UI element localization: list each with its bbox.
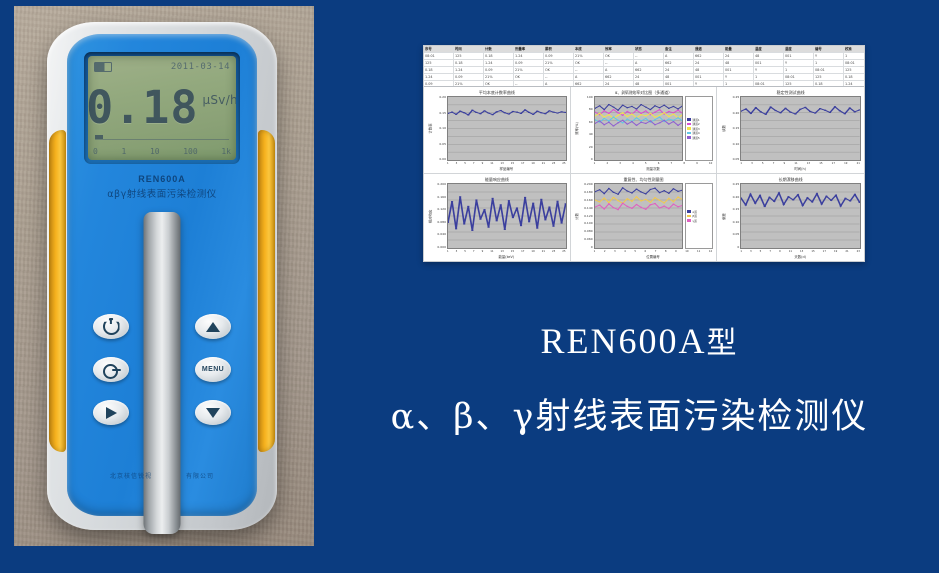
chart-data-point <box>520 225 522 226</box>
chart-data-point <box>663 190 665 191</box>
chart-y-tick: 0.200 <box>437 183 446 186</box>
chart-data-point <box>814 112 816 113</box>
spreadsheet-cell: 24 <box>664 67 694 73</box>
chart-data-point <box>622 203 624 204</box>
chart-y-tick: 40 <box>589 133 593 136</box>
triangle-up-icon <box>206 322 220 332</box>
spreadsheet-cell: 662 <box>694 53 724 59</box>
chart-data-point <box>612 109 614 110</box>
chart-data-point <box>556 201 558 202</box>
chart-data-point <box>668 208 670 209</box>
chart-data-point <box>640 122 642 123</box>
chart-data-point <box>475 199 477 200</box>
chart-data-point <box>595 191 596 192</box>
lcd-bargraph-axis <box>95 139 229 140</box>
chart-data-point <box>645 123 647 124</box>
chart-data-point <box>658 109 660 110</box>
page-subtitle: α、β、γ射线表面污染检测仪 <box>320 388 939 439</box>
chart-data-point <box>516 112 518 113</box>
chart-data-point <box>536 111 538 112</box>
spreadsheet-cell: 001 <box>724 67 754 73</box>
lcd-bargraph <box>95 135 229 140</box>
chart-data-point <box>622 122 624 123</box>
chart-data-point <box>520 113 522 114</box>
chart-data-point <box>622 120 624 121</box>
chart-x-axis-label: 位置编号 <box>593 254 714 260</box>
chart-data-point <box>672 188 674 189</box>
chart-data-point <box>645 193 647 194</box>
chart-legend-label: 通道1 <box>692 118 699 122</box>
chart-body: 偏差0.250.200.150.100.050 <box>720 183 861 249</box>
chart-body: 计数率0.200.150.100.050.00 <box>427 96 567 161</box>
device-label-model: REN600A <box>67 174 257 184</box>
chart-legend-item: 通道1 <box>687 118 711 122</box>
chart-data-point <box>528 221 530 222</box>
chart-series-line <box>741 107 860 115</box>
chart-data-point <box>672 112 674 113</box>
chart-data-point <box>608 114 610 115</box>
chart-plot-area <box>594 183 684 249</box>
chart-data-point <box>640 120 642 121</box>
chart-data-point <box>640 200 642 201</box>
chart-data-point <box>540 199 542 200</box>
chart-data-point <box>645 115 647 116</box>
chart-x-axis-label: 天数(d) <box>739 254 861 260</box>
chart-data-point <box>654 105 656 106</box>
spreadsheet-cell: 1.24 <box>484 60 514 66</box>
chart-y-tick: 0.20 <box>733 112 740 115</box>
chart-data-point <box>483 209 485 210</box>
chart-data-point <box>635 204 637 205</box>
chart-data-point <box>658 207 660 208</box>
chart-data-point <box>603 208 605 209</box>
chart-data-point <box>512 217 514 218</box>
chart-data-point <box>649 202 651 203</box>
chart-data-point <box>682 190 683 191</box>
chart-data-point <box>488 227 490 228</box>
title-block: REN600A型 α、β、γ射线表面污染检测仪 <box>320 318 939 439</box>
chart-y-tick: 0.05 <box>733 158 740 161</box>
chart-data-point <box>672 121 674 122</box>
chart-data-point <box>658 115 660 116</box>
chart-data-point <box>598 189 600 190</box>
chart-data-point <box>849 200 851 201</box>
chart-data-point <box>677 206 679 207</box>
chart-y-tick: 0.040 <box>437 233 446 236</box>
lcd-scale-tick: 1k <box>221 147 231 156</box>
chart-data-point <box>654 112 656 113</box>
detector-device: 2011-03-14 0.18 μSv/h 0 1 <box>47 22 277 530</box>
chart-data-point <box>672 106 674 107</box>
chart-data-point <box>483 110 485 111</box>
chart-plot-area <box>594 96 684 161</box>
chart-data-point <box>770 107 772 108</box>
chart-plot-area <box>740 96 861 161</box>
chart-legend-item: 通道5 <box>687 136 711 140</box>
chart-legend-label: γ道 <box>692 219 696 223</box>
keypad: MENU <box>81 314 243 429</box>
menu-button-label: MENU <box>202 366 224 373</box>
chart-data-point <box>800 109 802 110</box>
chart-data-point <box>612 125 614 126</box>
chart-data-point <box>595 112 596 113</box>
chart-legend-swatch <box>687 215 691 218</box>
chart-y-tick: 0.20 <box>439 96 446 99</box>
chart-data-point <box>608 202 610 203</box>
chart-data-point <box>631 106 633 107</box>
spreadsheet-cell: Y <box>754 67 784 73</box>
chart-data-point <box>451 201 453 202</box>
spreadsheet-cell: 1 <box>844 53 864 59</box>
chart-data-point <box>668 193 670 194</box>
chart-data-point <box>479 113 481 114</box>
chart-data-point <box>603 109 605 110</box>
spreadsheet-cell: 0.18 <box>454 60 484 66</box>
chart-legend-item: 通道3 <box>687 127 711 131</box>
chart-data-point <box>617 194 619 195</box>
chart-data-point <box>500 110 502 111</box>
chart-data-point <box>663 120 665 121</box>
device-label-name: αβγ射线表面污染检测仪 <box>67 186 257 200</box>
chart-data-point <box>561 111 563 112</box>
chart-y-ticks: 0.250.200.150.100.05 <box>726 96 740 161</box>
chart-data-point <box>622 105 624 106</box>
chart-legend-label: α道 <box>692 210 697 214</box>
chart-legend-swatch <box>687 219 691 222</box>
chart-legend-item: α道 <box>687 210 711 214</box>
chart-card[interactable]: 重复性、均匀性测量图计数0.2000.1800.1600.1400.1200.1… <box>571 174 718 261</box>
chart-data-point <box>608 104 610 105</box>
chart-data-point <box>682 120 683 121</box>
chart-data-point <box>603 124 605 125</box>
chart-data-point <box>849 107 851 108</box>
title-model: REN600A <box>541 321 707 361</box>
chart-data-point <box>626 111 628 112</box>
spreadsheet-cell: 21% <box>514 67 544 73</box>
spreadsheet-header-cell: 校准 <box>844 46 864 52</box>
chart-data-point <box>635 196 637 197</box>
chart-plot-area <box>447 183 567 249</box>
chart-y-tick: 0.000 <box>437 246 446 249</box>
chart-card[interactable]: 能量响应曲线相对响应0.2000.1600.1200.0800.0400.000… <box>424 174 571 261</box>
chart-data-point <box>448 222 449 223</box>
chart-data-point <box>612 207 614 208</box>
spreadsheet-header-row: 序号时间计数剂量率累积本底效率状态备注通道能量温度湿度编号校准 <box>424 46 864 53</box>
chart-data-point <box>471 110 473 111</box>
spreadsheet-cell: 001 <box>784 53 814 59</box>
chart-data-point <box>668 111 670 112</box>
chart-data-point <box>612 192 614 193</box>
spreadsheet-cell: 0.18 <box>844 74 864 80</box>
chart-data-point <box>598 120 600 121</box>
chart-plot-area <box>447 96 567 161</box>
chart-data-point <box>565 203 566 204</box>
chart-data-point <box>631 121 633 122</box>
spreadsheet-cell: 1.24 <box>454 67 484 73</box>
chart-data-point <box>807 197 809 198</box>
spreadsheet-cell: 0.09 <box>454 74 484 80</box>
chart-data-point <box>778 192 780 193</box>
chart-data-point <box>459 196 461 197</box>
chart-data-point <box>658 122 660 123</box>
chart-card[interactable]: 平均本底计数率曲线计数率0.200.150.100.050.0013579111… <box>424 87 571 174</box>
chart-y-tick: 0.160 <box>437 196 446 199</box>
chart-data-point <box>603 193 605 194</box>
chart-y-tick: 0.00 <box>439 158 446 161</box>
chart-series-line <box>448 197 566 231</box>
spreadsheet-cell: Y <box>724 74 754 80</box>
lcd-time: 2011-03-14 <box>171 62 230 72</box>
chart-legend-item: γ道 <box>687 219 711 223</box>
chart-y-ticks: 0.200.150.100.050.00 <box>433 96 447 161</box>
chart-legend-swatch <box>687 127 691 130</box>
spreadsheet-cell: 662 <box>604 74 634 80</box>
chart-data-point <box>595 108 596 109</box>
chart-data-point <box>668 108 670 109</box>
up-button[interactable] <box>195 314 231 339</box>
down-button[interactable] <box>195 400 231 425</box>
chart-data-point <box>658 192 660 193</box>
chart-data-point <box>765 114 767 115</box>
chart-body: 计数0.2000.1800.1600.1400.1200.1000.0800.0… <box>574 183 714 249</box>
spreadsheet-cell: 0.09 <box>544 53 574 59</box>
chart-data-point <box>595 115 596 116</box>
chart-data-point <box>780 112 782 113</box>
spreadsheet-cell: OK <box>574 60 604 66</box>
chart-data-point <box>750 194 752 195</box>
chart-data-point <box>626 118 628 119</box>
chart-data-point <box>755 203 757 204</box>
chart-data-point <box>512 111 514 112</box>
spreadsheet-cell: 0.09 <box>514 60 544 66</box>
chart-data-point <box>741 198 742 199</box>
chart-data-point <box>455 228 457 229</box>
spreadsheet-header-cell: 备注 <box>664 46 694 52</box>
spreadsheet-cell: 08:01 <box>784 74 814 80</box>
chart-data-point <box>654 119 656 120</box>
chart-data-point <box>809 111 811 112</box>
chart-data-point <box>640 207 642 208</box>
chart-data-point <box>508 113 510 114</box>
chart-data-point <box>635 125 637 126</box>
chart-data-point <box>672 201 674 202</box>
menu-button[interactable]: MENU <box>195 357 231 382</box>
chart-data-point <box>640 191 642 192</box>
chart-data-point <box>845 198 847 199</box>
play-button[interactable] <box>93 400 129 425</box>
chart-data-point <box>859 109 860 110</box>
spreadsheet-cell: 1 <box>814 60 844 66</box>
spreadsheet-cell: 24 <box>724 53 754 59</box>
spreadsheet-cell: A <box>574 74 604 80</box>
chart-data-point <box>663 112 665 113</box>
chart-data-point <box>654 117 656 118</box>
chart-data-point <box>829 112 831 113</box>
chart-data-point <box>471 230 473 231</box>
spreadsheet-header-cell: 状态 <box>634 46 664 52</box>
chart-data-point <box>617 200 619 201</box>
chart-data-point <box>802 205 804 206</box>
chart-data-point <box>459 111 461 112</box>
slide-root: 2011-03-14 0.18 μSv/h 0 1 <box>0 0 939 573</box>
chart-data-point <box>500 204 502 205</box>
chart-data-point <box>467 206 469 207</box>
chart-data-point <box>608 203 610 204</box>
spreadsheet-cell: A <box>634 60 664 66</box>
device-footer-text: 北京核信锐视 有限公司 <box>67 471 257 480</box>
chart-data-point <box>622 187 624 188</box>
lcd-scale-tick: 0 <box>93 147 98 156</box>
spreadsheet-area: 序号时间计数剂量率累积本底效率状态备注通道能量温度湿度编号校准08:011250… <box>424 46 864 87</box>
chart-data-point <box>626 116 628 117</box>
chart-data-point <box>635 110 637 111</box>
chart-data-point <box>649 204 651 205</box>
spreadsheet-cell: 125 <box>424 60 454 66</box>
spreadsheet-row: 1250.181.240.0921%OK--A6622448001Y108:01… <box>424 60 864 67</box>
chart-y-tick: 0.10 <box>439 127 446 130</box>
spreadsheet-cell: 662 <box>634 67 664 73</box>
chart-data-point <box>750 113 752 114</box>
chart-data-point <box>626 124 628 125</box>
chart-data-point <box>649 189 651 190</box>
chart-data-point <box>548 206 550 207</box>
chart-data-point <box>844 113 846 114</box>
chart-legend-item: β道 <box>687 214 711 218</box>
chart-data-point <box>819 108 821 109</box>
chart-data-point <box>654 203 656 204</box>
chart-data-point <box>598 105 600 106</box>
chart-data-point <box>792 199 794 200</box>
chart-body: 相对响应0.2000.1600.1200.0800.0400.000 <box>427 183 567 249</box>
chart-data-point <box>635 189 637 190</box>
chart-data-point <box>595 119 596 120</box>
chart-data-point <box>840 205 842 206</box>
chart-data-point <box>528 112 530 113</box>
side-grip-right <box>258 130 275 452</box>
chart-y-tick: 0.15 <box>439 112 446 115</box>
spreadsheet-cell: 0.09 <box>484 67 514 73</box>
chart-data-point <box>677 108 679 109</box>
chart-data-point <box>854 111 856 112</box>
chart-data-point <box>640 113 642 114</box>
spreadsheet-cell: 1.24 <box>514 53 544 59</box>
chart-data-point <box>488 112 490 113</box>
chart-data-point <box>649 120 651 121</box>
chart-data-point <box>745 204 747 205</box>
chart-data-point <box>760 111 762 112</box>
chart-data-point <box>805 107 807 108</box>
device-faceplate: 2011-03-14 0.18 μSv/h 0 1 <box>67 34 257 516</box>
chart-card[interactable]: α、β探测效率对比图（多通道）效率(%)100806040200通道1通道2通道… <box>571 87 718 174</box>
chart-plot-area <box>740 183 861 249</box>
chart-data-point <box>496 220 498 221</box>
spreadsheet-cell: 21% <box>484 74 514 80</box>
chart-data-point <box>826 196 828 197</box>
power-button[interactable] <box>93 314 129 339</box>
chart-data-point <box>658 107 660 108</box>
chart-data-point <box>617 112 619 113</box>
chart-data-point <box>552 112 554 113</box>
chart-x-axis-label: 测量次数 <box>593 166 714 172</box>
chart-legend-label: 通道4 <box>692 131 699 135</box>
chart-data-point <box>830 200 832 201</box>
search-button[interactable] <box>93 357 129 382</box>
chart-data-point <box>552 226 554 227</box>
battery-icon <box>94 62 112 72</box>
chart-data-point <box>658 200 660 201</box>
spreadsheet-cell: A <box>604 67 634 73</box>
chart-legend-swatch <box>687 210 691 213</box>
chart-data-point <box>677 197 679 198</box>
chart-data-point <box>451 112 453 113</box>
chart-y-tick: 0.160 <box>584 199 593 202</box>
lcd-scale-tick: 1 <box>121 147 126 156</box>
chart-data-point <box>548 110 550 111</box>
chart-data-point <box>658 117 660 118</box>
spreadsheet-row: 08:011250.181.240.0921%OK--A6622448001Y1… <box>424 53 864 60</box>
device-label: REN600A αβγ射线表面污染检测仪 <box>67 174 257 200</box>
chart-data-point <box>677 125 679 126</box>
spreadsheet-header-cell: 时间 <box>454 46 484 52</box>
chart-data-point <box>598 201 600 202</box>
chart-data-point <box>790 112 792 113</box>
chart-data-point <box>448 113 449 114</box>
spreadsheet-cell: Y <box>814 53 844 59</box>
spreadsheet-header-cell: 通道 <box>694 46 724 52</box>
chart-data-point <box>617 115 619 116</box>
chart-card[interactable]: 稳定性测试曲线读数0.250.200.150.100.0513579111315… <box>717 87 864 174</box>
chart-data-point <box>536 228 538 229</box>
spreadsheet-cell: 125 <box>814 74 844 80</box>
chart-data-point <box>795 113 797 114</box>
chart-data-point <box>769 197 771 198</box>
software-screenshot-panel: 序号时间计数剂量率累积本底效率状态备注通道能量温度湿度编号校准08:011250… <box>423 45 865 262</box>
chart-data-point <box>645 118 647 119</box>
spreadsheet-cell: 1 <box>784 67 814 73</box>
device-footer-left: 北京核信锐视 <box>110 471 152 480</box>
chart-y-tick: 0.25 <box>733 183 740 186</box>
chart-data-point <box>544 113 546 114</box>
chart-y-tick: 0.060 <box>584 238 593 241</box>
spreadsheet-header-cell: 累积 <box>544 46 574 52</box>
chart-data-point <box>635 117 637 118</box>
chart-data-point <box>561 222 563 223</box>
spreadsheet-header-cell: 湿度 <box>784 46 814 52</box>
page-title: REN600A型 <box>320 318 939 362</box>
power-icon <box>103 318 120 335</box>
chart-data-point <box>677 191 679 192</box>
chart-y-tick: 0.05 <box>733 233 740 236</box>
chart-y-tick: 0.05 <box>439 143 446 146</box>
product-photo: 2011-03-14 0.18 μSv/h 0 1 <box>14 6 314 546</box>
chart-data-point <box>682 105 683 106</box>
chart-data-point <box>622 112 624 113</box>
spreadsheet-cell: Y <box>784 60 814 66</box>
chart-data-point <box>626 190 628 191</box>
chart-data-point <box>682 205 683 206</box>
chart-data-point <box>834 106 836 107</box>
chart-data-point <box>672 120 674 121</box>
chart-data-point <box>775 110 777 111</box>
spreadsheet-header-cell: 计数 <box>484 46 514 52</box>
chart-data-point <box>626 198 628 199</box>
spreadsheet-cell: 001 <box>694 74 724 80</box>
chart-legend-label: 通道3 <box>692 127 699 131</box>
chart-grid: 平均本底计数率曲线计数率0.200.150.100.050.0013579111… <box>424 87 864 261</box>
chart-data-point <box>645 107 647 108</box>
spreadsheet-cell: 21% <box>544 60 574 66</box>
chart-card[interactable]: 长期漂移曲线偏差0.250.200.150.100.05013579111315… <box>717 174 864 261</box>
